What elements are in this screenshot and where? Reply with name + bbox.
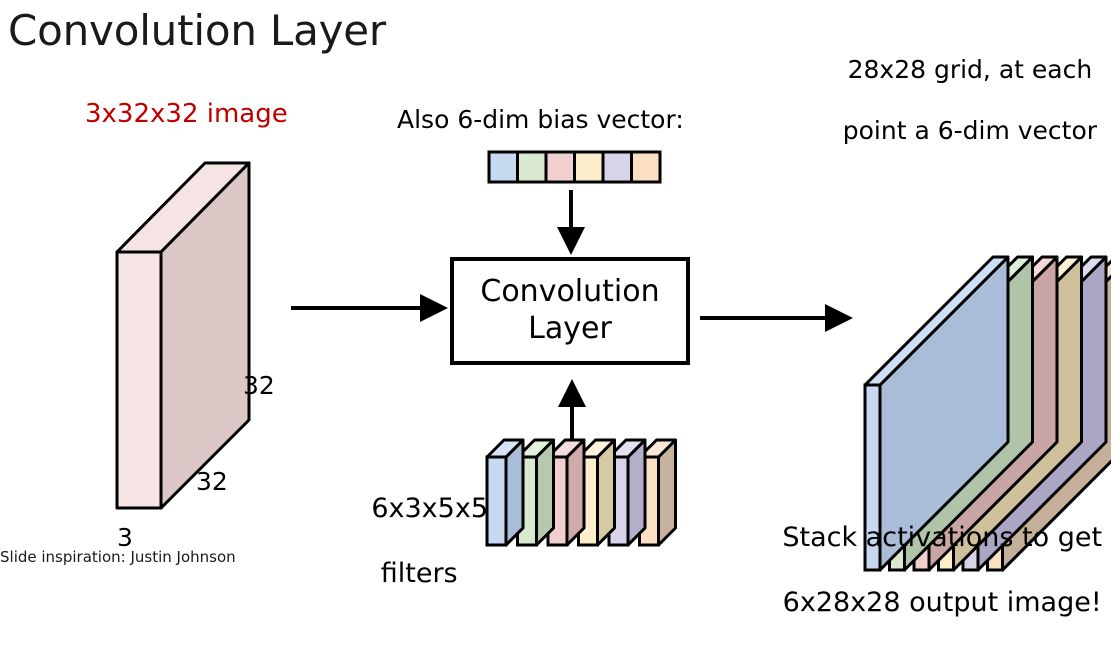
bias-cell-2 [518,152,547,182]
conv-label-line1: Convolution [480,274,659,311]
output-grid-caption: 28x28 grid, at each point a 6-dim vector [806,24,1102,177]
convolution-layer-label: Convolution Layer [452,259,688,363]
input-dim-width-label: 32 [196,467,228,497]
filters-caption-line1: 6x3x5x5 [371,493,488,524]
input-volume-shape [117,163,249,508]
grid-caption-line2: point a 6-dim vector [843,116,1097,145]
input-dim-height-label: 32 [243,371,275,401]
filters-caption: 6x3x5x5 filters [337,461,467,623]
grid-caption-line1: 28x28 grid, at each [848,55,1093,84]
bias-cell-5 [603,152,632,182]
bias-cell-6 [632,152,661,182]
slide-attribution: Slide inspiration: Justin Johnson [0,549,236,567]
bias-cell-1 [489,152,518,182]
filter-slab-1 [487,440,523,545]
page-title: Convolution Layer [8,6,386,56]
conv-label-line2: Layer [528,311,612,348]
filter-stack-shape [487,440,676,545]
stack-caption-line1: Stack activations to get a [782,522,1111,553]
bias-cell-3 [546,152,575,182]
stack-caption-line2: 6x28x28 output image! [783,587,1102,618]
input-volume-caption: 3x32x32 image [85,99,288,130]
output-stack-caption: Stack activations to get a 6x28x28 outpu… [748,490,1102,652]
input-volume-front-face [117,252,161,508]
bias-vector-shape [489,152,660,182]
filters-caption-line2: filters [381,558,458,589]
bias-cell-4 [575,152,604,182]
bias-vector-caption: Also 6-dim bias vector: [397,105,684,135]
filter-slab-1-front-face [487,457,506,545]
slide-canvas: Convolution Layer 3x32x32 image Also 6-d… [0,0,1111,570]
